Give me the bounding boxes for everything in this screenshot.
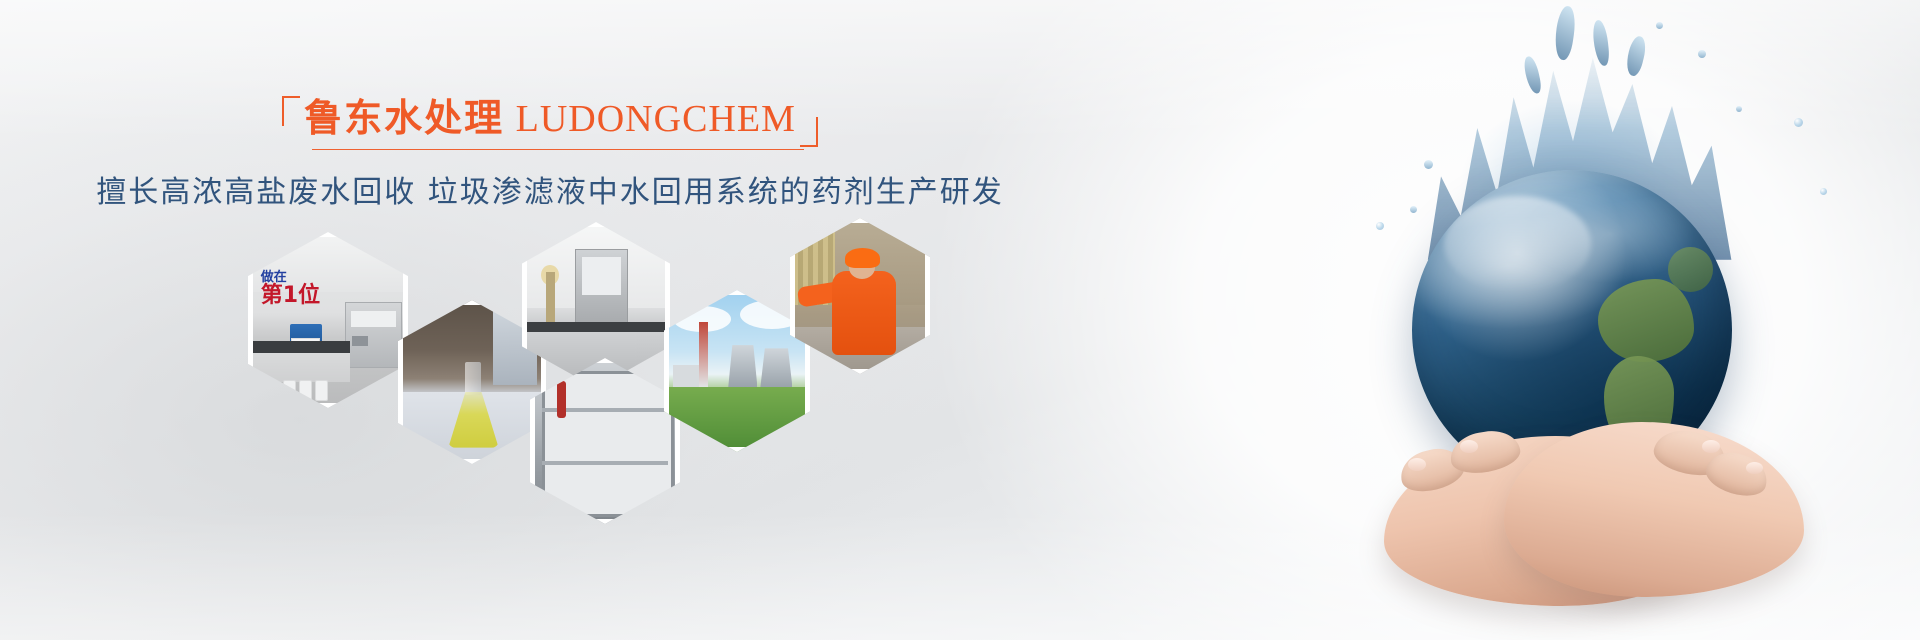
hex-photo-pipe-rack[interactable] [530, 358, 680, 524]
hex-photo-power-plant[interactable] [664, 290, 810, 452]
water-globe-illustration [1296, 0, 1856, 640]
title-underline [312, 149, 804, 150]
hands [1354, 392, 1794, 622]
hex-photo-laboratory-room[interactable]: 做在 第1位 [248, 232, 408, 408]
water-droplet [1820, 188, 1827, 195]
water-droplet [1794, 118, 1803, 127]
hex-photo-worker[interactable] [790, 218, 930, 374]
brand-title-cn: 鲁东水处理 [304, 98, 504, 140]
banner-subtitle: 擅长高浓高盐废水回收 垃圾渗滤液中水回用系统的药剂生产研发 [0, 167, 1100, 211]
brand-title-text: 鲁东水处理 LUDONGCHEM [304, 100, 796, 140]
brand-title-en: LUDONGCHEM [516, 98, 796, 140]
water-droplet [1376, 222, 1384, 230]
bracket-right-icon [800, 117, 818, 147]
brand-title: 鲁东水处理 LUDONGCHEM [282, 96, 818, 147]
bracket-left-icon [282, 96, 300, 126]
headline-block: 鲁东水处理 LUDONGCHEM 擅长高浓高盐废水回收 垃圾渗滤液中水回用系统的… [0, 96, 1100, 211]
hero-banner: 鲁东水处理 LUDONGCHEM 擅长高浓高盐废水回收 垃圾渗滤液中水回用系统的… [0, 0, 1920, 640]
